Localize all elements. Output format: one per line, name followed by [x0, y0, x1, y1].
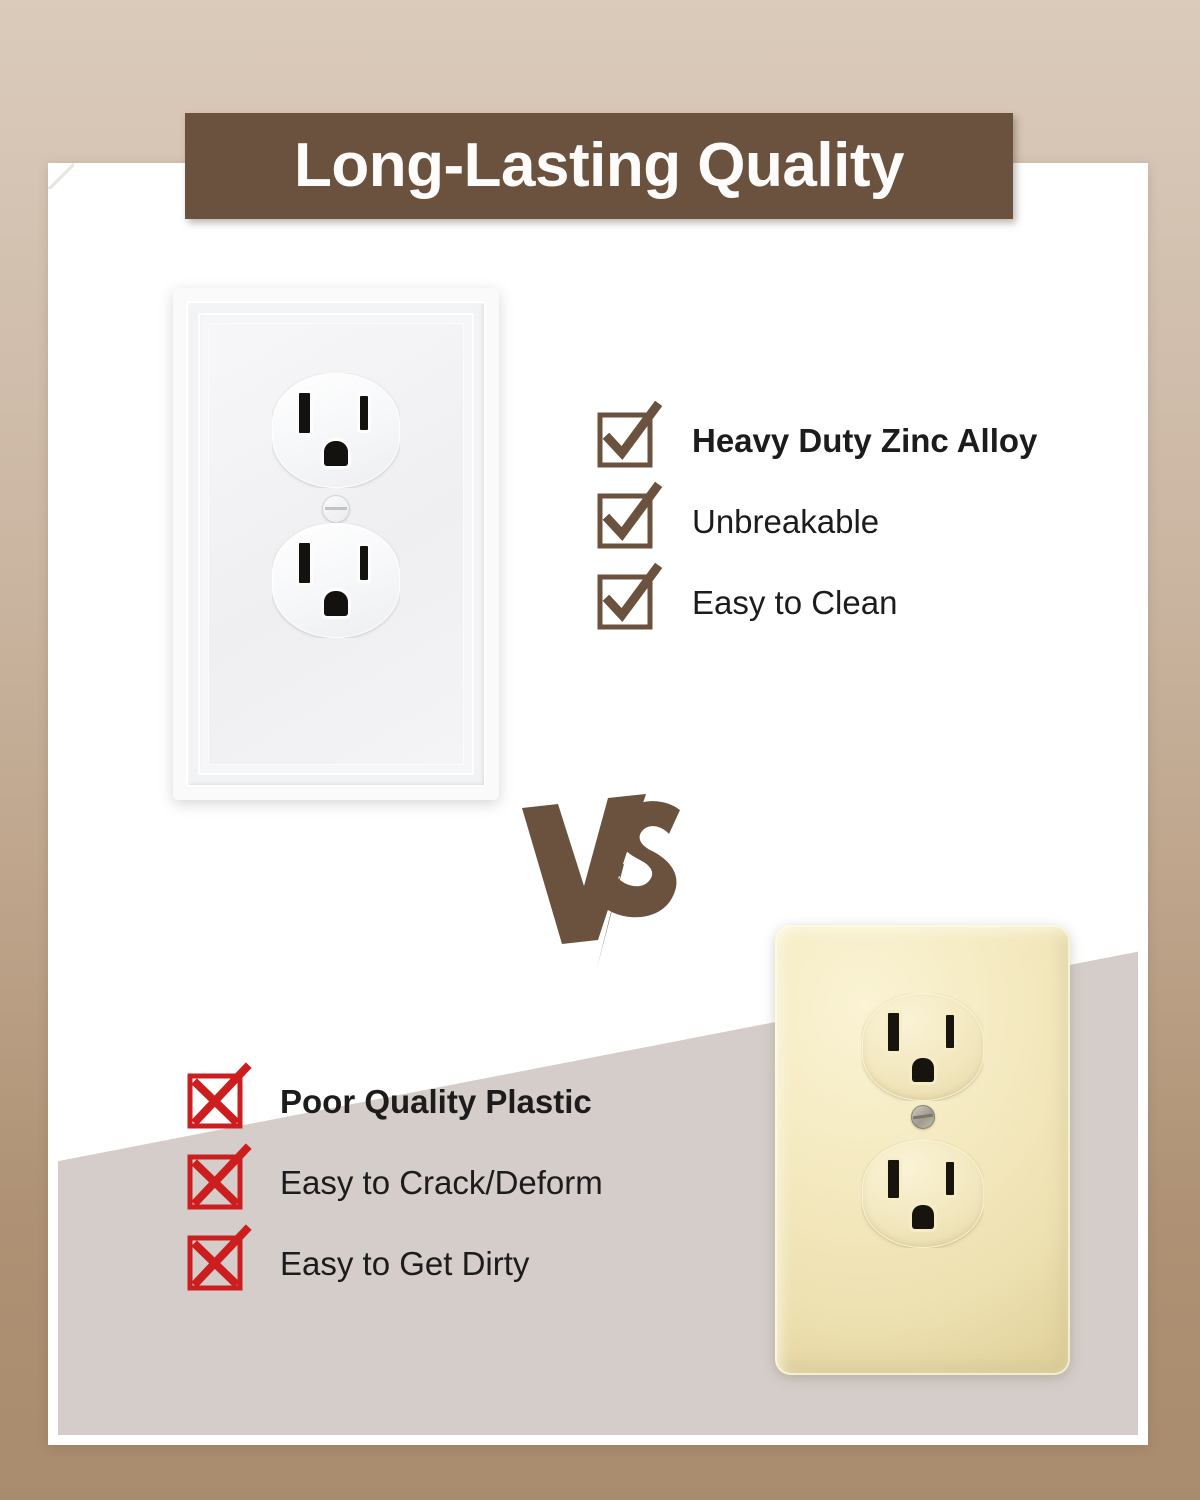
neutral-slot-icon: [888, 1013, 899, 1051]
infographic-canvas: Long-Lasting Quality: [0, 0, 1200, 1500]
checkbox-crossed-icon: [190, 1076, 240, 1126]
receptacle-top: [272, 373, 400, 488]
list-item: Poor Quality Plastic: [190, 1076, 603, 1126]
plate-inner-bevel: [198, 313, 474, 775]
white-wall-plate: [173, 288, 499, 800]
versus-badge: [512, 790, 702, 965]
checkbox-crossed-icon: [190, 1238, 240, 1288]
list-item-label: Unbreakable: [692, 505, 879, 538]
ivory-wall-plate: [775, 925, 1070, 1375]
neutral-slot-icon: [888, 1160, 899, 1198]
title-banner: Long-Lasting Quality: [185, 113, 1013, 219]
receptacle-top: [862, 993, 984, 1101]
checkbox-checked-icon: [600, 415, 650, 465]
hot-slot-icon: [946, 1162, 954, 1195]
receptacle-bottom: [862, 1140, 984, 1248]
list-item-label: Easy to Crack/Deform: [280, 1166, 603, 1199]
hot-slot-icon: [360, 546, 368, 580]
list-item: Easy to Clean: [600, 577, 1037, 627]
ground-hole-icon: [324, 591, 348, 616]
cons-feature-list: Poor Quality Plastic Easy to Crack/Defor…: [190, 1076, 603, 1288]
list-item-label: Heavy Duty Zinc Alloy: [692, 424, 1037, 457]
checkbox-checked-icon: [600, 577, 650, 627]
list-item-label: Easy to Clean: [692, 586, 897, 619]
list-item-label: Poor Quality Plastic: [280, 1085, 592, 1118]
hot-slot-icon: [360, 396, 368, 430]
center-screw-icon: [911, 1105, 935, 1129]
checkbox-checked-icon: [600, 496, 650, 546]
center-screw-icon: [322, 495, 350, 523]
ground-hole-icon: [912, 1058, 934, 1082]
list-item: Heavy Duty Zinc Alloy: [600, 415, 1037, 465]
pros-feature-list: Heavy Duty Zinc Alloy Unbreakable Easy t…: [600, 415, 1037, 627]
plate-face: [208, 323, 464, 765]
list-item: Easy to Crack/Deform: [190, 1157, 603, 1207]
ground-hole-icon: [324, 441, 348, 466]
neutral-slot-icon: [299, 543, 310, 583]
ground-hole-icon: [912, 1205, 934, 1229]
receptacle-bottom: [272, 523, 400, 638]
plate-outer-bevel: [186, 301, 486, 787]
hot-slot-icon: [946, 1015, 954, 1048]
list-item: Easy to Get Dirty: [190, 1238, 603, 1288]
list-item: Unbreakable: [600, 496, 1037, 546]
page-title: Long-Lasting Quality: [294, 135, 904, 197]
checkbox-crossed-icon: [190, 1157, 240, 1207]
neutral-slot-icon: [299, 393, 310, 433]
list-item-label: Easy to Get Dirty: [280, 1247, 529, 1280]
